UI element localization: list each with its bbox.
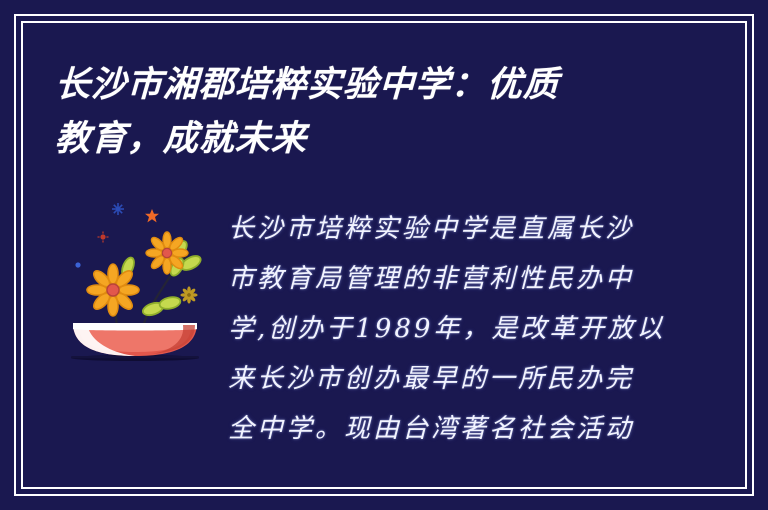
poster-canvas: 长沙市湘郡培粹实验中学：优质 教育，成就未来 <box>0 0 768 510</box>
flower-large <box>87 264 139 316</box>
body-line-1: 长沙市培粹实验中学是直属长沙 <box>228 204 660 254</box>
small-flower-sparkle <box>180 286 197 303</box>
dot-sparkle <box>98 232 109 243</box>
snowflake-sparkle <box>112 203 124 215</box>
headline-block: 长沙市湘郡培粹实验中学：优质 教育，成就未来 <box>55 58 655 166</box>
ground-line <box>71 356 199 358</box>
star-sparkle <box>145 209 159 222</box>
headline-line-1: 长沙市湘郡培粹实验中学：优质 <box>54 58 656 112</box>
leaf-group-lower <box>141 295 181 317</box>
flower-pot-illustration <box>55 195 215 375</box>
body-line-4: 来长沙市创办最早的一所民办完 <box>228 354 660 404</box>
headline-line-2: 教育，成就未来 <box>54 112 656 166</box>
blue-dot-sparkle <box>75 262 80 267</box>
flower-pot <box>73 323 197 356</box>
flower-medium <box>146 232 188 274</box>
body-line-5: 全中学。现由台湾著名社会活动 <box>228 404 660 454</box>
body-copy-block: 长沙市培粹实验中学是直属长沙 市教育局管理的非营利性民办中 学,创办于1989年… <box>228 204 660 454</box>
body-line-3: 学,创办于1989年，是改革开放以 <box>228 304 660 354</box>
body-line-2: 市教育局管理的非营利性民办中 <box>228 254 660 304</box>
